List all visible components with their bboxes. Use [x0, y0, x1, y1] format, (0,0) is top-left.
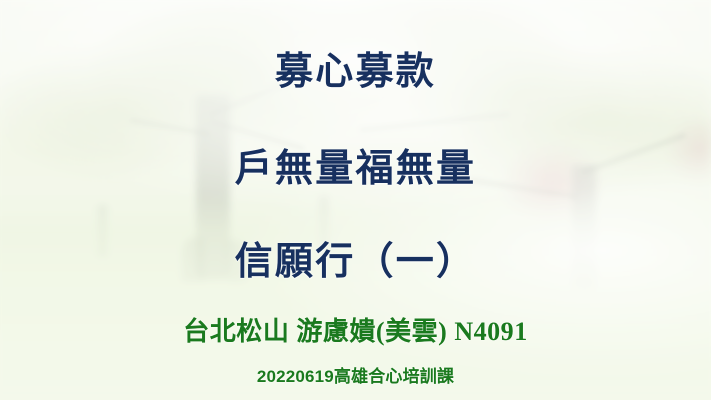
slide-text-container: 募心募款 戶無量福無量 信願行（一） 台北松山 游慮嬇(美雲) N4091 20…	[0, 0, 711, 400]
slide-title-line-2: 戶無量福無量	[235, 137, 477, 192]
presenter-byline: 台北松山 游慮嬇(美雲) N4091	[183, 311, 527, 348]
presentation-slide: 募心募款 戶無量福無量 信願行（一） 台北松山 游慮嬇(美雲) N4091 20…	[0, 0, 711, 400]
course-caption: 20220619高雄合心培訓課	[257, 362, 454, 387]
slide-title-line-3: 信願行（一）	[235, 230, 477, 285]
slide-title-line-1: 募心募款	[275, 40, 436, 95]
